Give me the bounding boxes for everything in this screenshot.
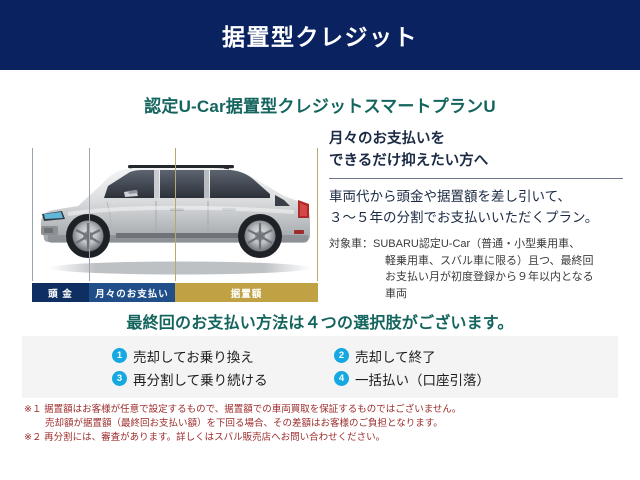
segment-guide-line xyxy=(317,148,318,281)
page-header: 据置型クレジット xyxy=(0,0,640,70)
footnote-line: ※１ 据置額はお客様が任意で設定するもので、据置額での車両買取を保証するものでは… xyxy=(24,403,624,417)
option-number-badge: 2 xyxy=(334,348,349,363)
eligible-vehicles: 対象車：SUBARU認定U-Car（普通・小型乗用車、 軽乗用車、スバル車に限る… xyxy=(329,236,629,303)
credit-plan-page: 据置型クレジット 認定U-Car据置型クレジットスマートプランU xyxy=(0,0,640,480)
footnotes: ※１ 据置額はお客様が任意で設定するもので、据置額での車両買取を保証するものでは… xyxy=(24,403,624,445)
option-number-badge: 1 xyxy=(112,348,127,363)
payment-breakdown-figure: 頭 金 月々のお支払い 据置額 xyxy=(32,134,318,302)
option-number-badge: 3 xyxy=(112,371,127,386)
footnote-line: ※２ 再分割には、審査があります。詳しくはスバル販売店へお問い合わせください。 xyxy=(24,431,624,445)
eligible-vehicles-lines: 対象車：SUBARU認定U-Car（普通・小型乗用車、 軽乗用車、スバル車に限る… xyxy=(329,236,629,303)
plan-subtitle: 認定U-Car据置型クレジットスマートプランU xyxy=(0,92,640,117)
footnote-line: 売却額が据置額（最終回お支払い額）を下回る場合、その差額はお客様のご負担となりま… xyxy=(24,417,624,431)
option-label: 売却してお乗り換え xyxy=(133,346,254,366)
divider xyxy=(329,178,623,179)
option-item-2[interactable]: 2 売却して終了 xyxy=(334,346,582,366)
option-label: 再分割して乗り続ける xyxy=(133,369,268,389)
plan-lead: 月々のお支払いを できるだけ抑えたい方へ xyxy=(329,128,629,178)
segment-guide-line xyxy=(175,148,176,281)
vehicle-photo xyxy=(32,134,318,281)
eligible-line: 対象車：SUBARU認定U-Car（普通・小型乗用車、 xyxy=(329,236,629,253)
option-label: 売却して終了 xyxy=(355,346,436,366)
eligible-line: 軽乗用車、スバル車に限る）且つ、最終回 xyxy=(329,253,629,270)
eligible-line: 車両 xyxy=(329,286,629,303)
plan-lead-line-2: できるだけ抑えたい方へ xyxy=(329,150,629,172)
final-payment-heading: 最終回のお支払い方法は４つの選択肢がございます。 xyxy=(0,309,640,333)
plan-desc-line-2: ３～５年の分割でお支払いいただくプラン。 xyxy=(329,208,629,229)
main-content: 頭 金 月々のお支払い 据置額 月々のお支払いを できるだけ抑えたい方へ 車両代… xyxy=(0,128,640,308)
option-item-4[interactable]: 4 一括払い（口座引落） xyxy=(334,369,582,389)
segment-monthly-payment: 月々のお支払い xyxy=(89,283,175,302)
option-number-badge: 4 xyxy=(334,371,349,386)
plan-description: 月々のお支払いを できるだけ抑えたい方へ 車両代から頭金や据置額を差し引いて、 … xyxy=(329,128,629,303)
option-label: 一括払い（口座引落） xyxy=(355,369,490,389)
plan-desc-line-1: 車両代から頭金や据置額を差し引いて、 xyxy=(329,187,629,208)
plan-lead-line-1: 月々のお支払いを xyxy=(329,128,629,150)
option-item-3[interactable]: 3 再分割して乗り続ける xyxy=(112,369,334,389)
payment-segment-bar: 頭 金 月々のお支払い 据置額 xyxy=(32,283,318,302)
eligible-line: お支払い月が初度登録から９年以内となる xyxy=(329,269,629,286)
plan-desc: 車両代から頭金や据置額を差し引いて、 ３～５年の分割でお支払いいただくプラン。 xyxy=(329,187,629,229)
options-grid: 1 売却してお乗り換え 2 売却して終了 3 再分割して乗り続ける 4 一括払い… xyxy=(112,344,582,390)
final-payment-options-box: 1 売却してお乗り換え 2 売却して終了 3 再分割して乗り続ける 4 一括払い… xyxy=(22,336,618,398)
option-item-1[interactable]: 1 売却してお乗り換え xyxy=(112,346,334,366)
segment-guide-line xyxy=(32,148,33,281)
segment-guide-line xyxy=(89,148,90,281)
page-title: 据置型クレジット xyxy=(222,18,418,52)
segment-deferred-amount: 据置額 xyxy=(175,283,318,302)
segment-down-payment: 頭 金 xyxy=(32,283,89,302)
